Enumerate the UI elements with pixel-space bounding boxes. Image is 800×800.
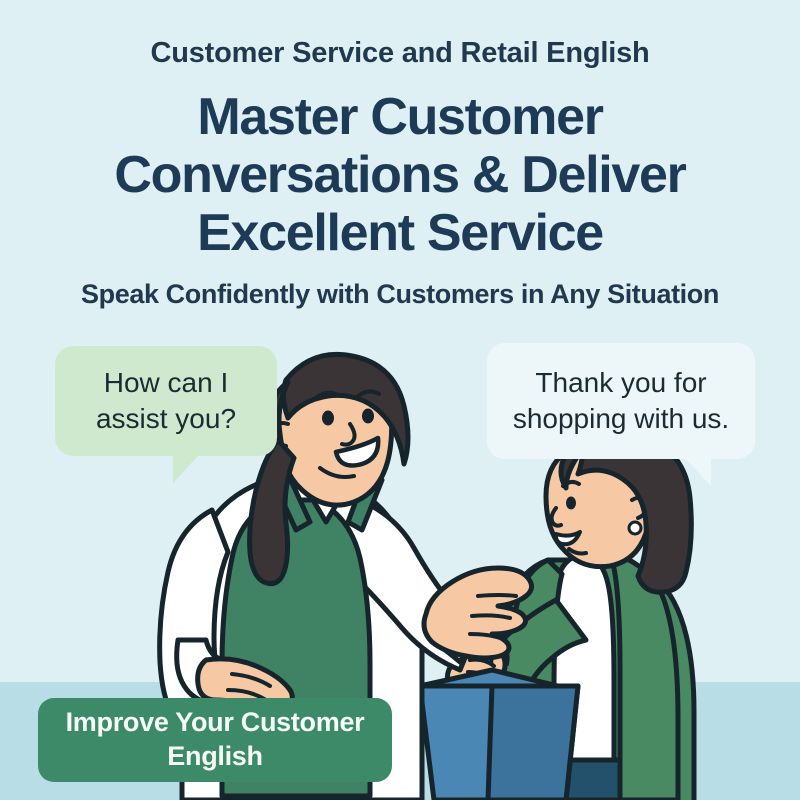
headline-line-1: Master Customer [40, 88, 760, 146]
poster-canvas: .ol { stroke:#16242b; stroke-width:5; st… [0, 0, 800, 800]
cta-banner-label: Improve Your Customer English [54, 706, 376, 774]
speech-bubble-customer: Thank you for shopping with us. [487, 343, 755, 459]
speech-bubble-associate: How can I assist you? [55, 346, 277, 456]
page-title: Master Customer Conversations & Deliver … [40, 88, 760, 263]
cta-banner[interactable]: Improve Your Customer English [38, 698, 392, 782]
speech-bubble-associate-text: How can I assist you? [65, 365, 267, 438]
speech-bubble-customer-text: Thank you for shopping with us. [497, 365, 745, 438]
headline-line-2: Conversations & Deliver [40, 146, 760, 204]
headline-line-3: Excellent Service [40, 204, 760, 262]
speech-bubble-associate-tail [173, 455, 211, 483]
subtitle-text: Speak Confidently with Customers in Any … [20, 279, 780, 310]
speech-bubble-customer-tail [673, 458, 711, 486]
eyebrow-text: Customer Service and Retail English [0, 38, 800, 70]
